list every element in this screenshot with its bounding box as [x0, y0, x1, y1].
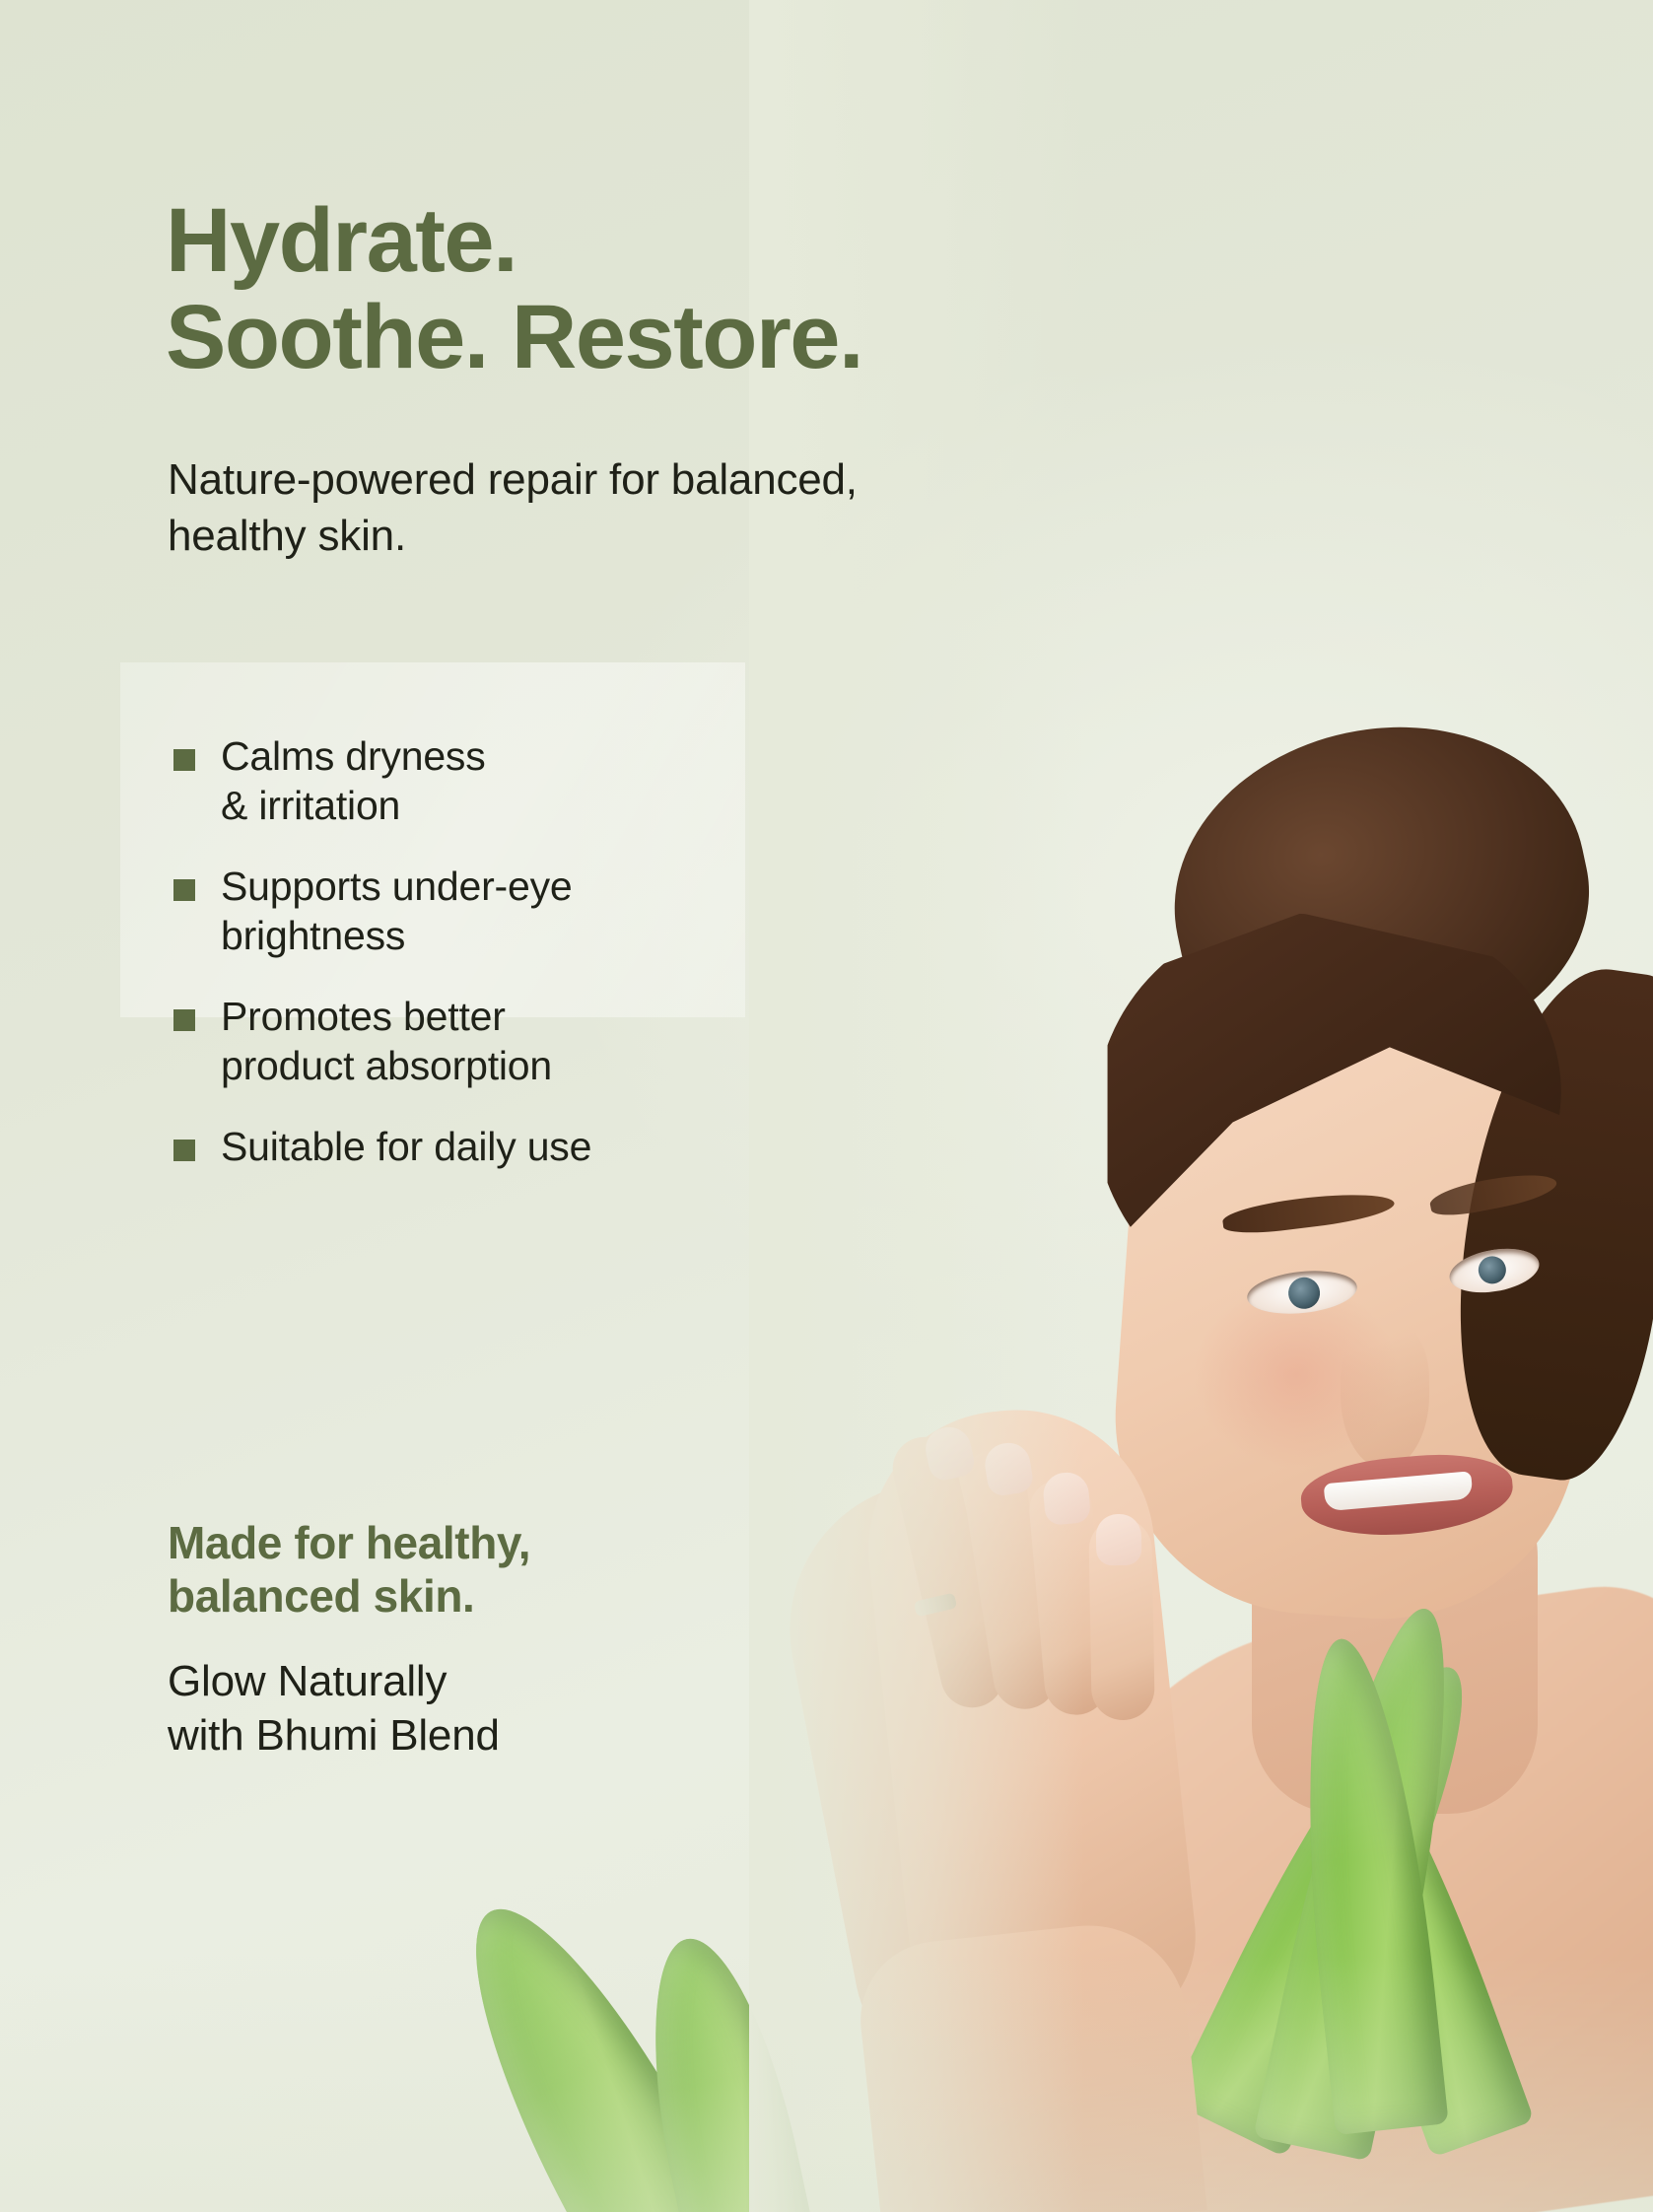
list-item: Suitable for daily use	[173, 1122, 765, 1171]
subtitle: Nature-powered repair for balanced, heal…	[168, 451, 917, 564]
list-item: Calms dryness & irritation	[173, 731, 765, 830]
nose	[1341, 1321, 1429, 1469]
copy-column: Hydrate. Soothe. Restore. Nature-powered…	[0, 0, 1084, 2212]
eyebrow-right	[1427, 1167, 1558, 1220]
benefit-label: Calms dryness & irritation	[221, 731, 486, 830]
neck	[1252, 1439, 1538, 1814]
hair-side	[1434, 955, 1653, 1490]
teeth	[1324, 1471, 1474, 1511]
eyebrow-left	[1221, 1187, 1396, 1237]
eye-left	[1245, 1266, 1359, 1318]
benefit-label: Suitable for daily use	[221, 1122, 591, 1171]
square-bullet-icon	[173, 749, 195, 771]
aloe-blade	[1253, 1597, 1483, 2162]
aloe-blade	[1274, 1686, 1535, 2158]
lips	[1298, 1448, 1516, 1543]
square-bullet-icon	[173, 1140, 195, 1161]
list-item: Supports under-eye brightness	[173, 862, 765, 960]
benefits-list: Calms dryness & irritation Supports unde…	[173, 731, 765, 1171]
square-bullet-icon	[173, 879, 195, 901]
closing-tagline: Glow Naturally with Bhumi Blend	[168, 1654, 798, 1763]
aloe-leaf	[1284, 1633, 1449, 2135]
hair-bun	[1143, 690, 1616, 1094]
benefit-label: Promotes better product absorption	[221, 992, 552, 1090]
square-bullet-icon	[173, 1009, 195, 1031]
skincare-poster: Hydrate. Soothe. Restore. Nature-powered…	[0, 0, 1653, 2212]
eye-right	[1446, 1242, 1543, 1298]
fingernail	[1096, 1514, 1142, 1566]
page-title: Hydrate. Soothe. Restore.	[166, 193, 1053, 385]
aloe-leaf	[1253, 1597, 1483, 2162]
finger	[1088, 1517, 1155, 1720]
shoulder	[1020, 1571, 1653, 2212]
face	[1102, 970, 1608, 1631]
headline-line-2: Soothe. Restore.	[166, 290, 1053, 386]
cheek-blush	[1193, 1281, 1400, 1469]
closing-heading: Made for healthy, balanced skin.	[168, 1516, 798, 1624]
hair-front	[1073, 894, 1577, 1354]
headline-line-1: Hydrate.	[166, 190, 517, 291]
aloe-leaf	[1170, 1640, 1510, 2157]
iris-right	[1477, 1254, 1508, 1285]
aloe-blade	[1170, 1640, 1510, 2157]
iris-left	[1287, 1276, 1322, 1310]
ear	[1546, 1211, 1653, 1362]
aloe-blade	[1284, 1633, 1449, 2135]
benefit-label: Supports under-eye brightness	[221, 862, 573, 960]
aloe-leaf	[1274, 1686, 1535, 2158]
list-item: Promotes better product absorption	[173, 992, 765, 1090]
